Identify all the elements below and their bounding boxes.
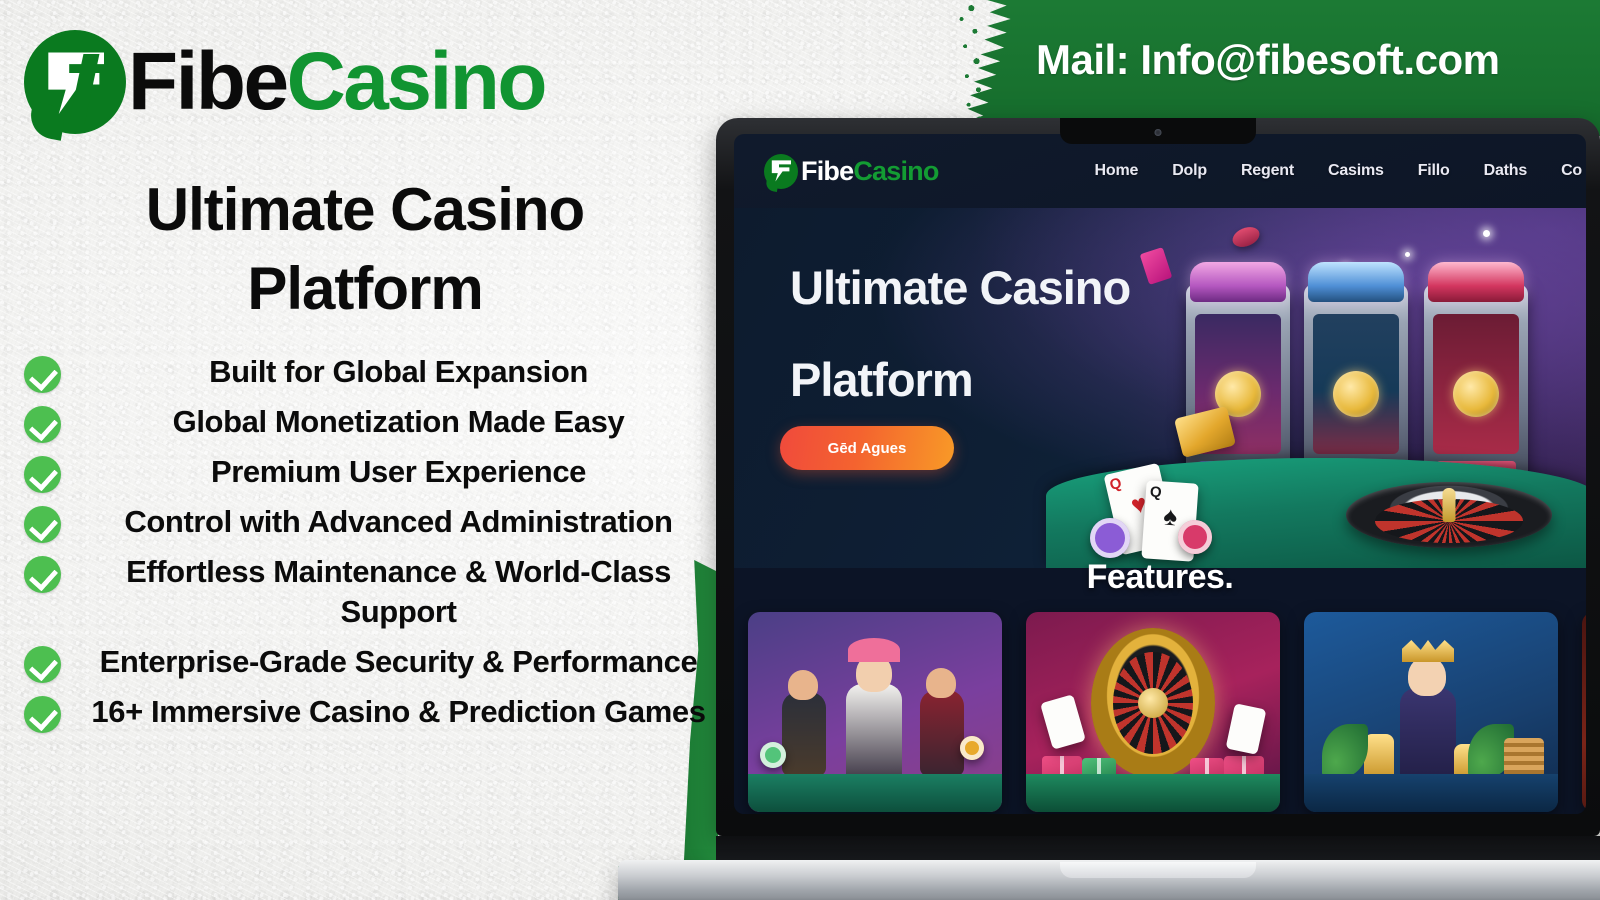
hero-title-line1: Ultimate Casino: [790, 242, 1130, 334]
website-logo[interactable]: FibeCasino: [764, 154, 939, 189]
slot-machine-coin-icon: [1453, 371, 1499, 417]
roulette-wheel-icon: [1346, 482, 1552, 548]
roulette-hub: [1138, 688, 1168, 718]
list-item: Enterprise-Grade Security & Performance: [24, 642, 724, 683]
list-item-label: Built for Global Expansion: [77, 352, 724, 392]
list-item: Control with Advanced Administration: [24, 502, 724, 543]
roulette-wheel-icon: [1091, 628, 1215, 778]
list-item: Built for Global Expansion: [24, 352, 724, 393]
queen-head: [1408, 656, 1446, 696]
card-pip: Q: [1108, 476, 1123, 493]
nav-item-home[interactable]: Home: [1095, 162, 1139, 180]
check-circle-icon: [24, 406, 61, 443]
card-table-felt: [1026, 774, 1280, 812]
casino-chip-icon: [760, 742, 786, 768]
hero-cta-button[interactable]: Gēd Agues: [780, 426, 954, 470]
slot-machine-crown: [1428, 262, 1524, 302]
card-table-felt: [748, 774, 1002, 812]
features-section-title: Features.: [1087, 558, 1234, 597]
sparkle-icon: [1483, 230, 1490, 237]
hostess-character: [846, 684, 902, 782]
croupier-head: [926, 668, 956, 698]
casino-chip-icon: [960, 736, 984, 760]
page-title-line1: Ultimate Casino: [20, 170, 710, 249]
brand-logo: FibeCasino: [24, 30, 545, 134]
hero-artwork: Q ♥ Q ♠: [1086, 208, 1586, 568]
list-item: Global Monetization Made Easy: [24, 402, 724, 443]
laptop-base-notch: [1060, 862, 1256, 878]
slot-machine-crown: [1308, 262, 1404, 302]
website-features-section: Features.: [734, 568, 1586, 814]
laptop-base: [618, 860, 1600, 900]
list-item: Effortless Maintenance & World-Class Sup…: [24, 552, 724, 633]
dealer-head: [788, 670, 818, 700]
casino-chip-icon: [1230, 223, 1263, 250]
casino-chip-icon: [1090, 518, 1130, 558]
card-suit-icon: ♠: [1163, 503, 1179, 530]
nav-item-casims[interactable]: Casims: [1328, 162, 1384, 180]
nav-item-fillo[interactable]: Fillo: [1418, 162, 1450, 180]
card-pip: Q: [1149, 485, 1162, 501]
page-title-line2: Platform: [20, 249, 710, 328]
slot-machine-crown: [1190, 262, 1286, 302]
check-circle-icon: [24, 456, 61, 493]
feature-card-partial[interactable]: [1582, 612, 1586, 812]
check-circle-icon: [24, 506, 61, 543]
list-item-label: Global Monetization Made Easy: [77, 402, 724, 442]
feature-bullet-list: Built for Global Expansion Global Moneti…: [24, 352, 724, 742]
list-item-label: 16+ Immersive Casino & Prediction Games: [77, 692, 724, 732]
nav-item-co[interactable]: Co: [1561, 162, 1582, 180]
website-logo-part2: Casino: [853, 156, 938, 186]
playing-card-icon: [1226, 703, 1267, 755]
feature-card-trophy[interactable]: [1304, 612, 1558, 812]
check-circle-icon: [24, 356, 61, 393]
laptop-mockup: FibeCasino Home Dolp Regent Casims Fillo…: [716, 118, 1600, 900]
nav-item-regent[interactable]: Regent: [1241, 162, 1294, 180]
playing-card-icon: [1040, 694, 1086, 750]
check-circle-icon: [24, 696, 61, 733]
laptop-lid: FibeCasino Home Dolp Regent Casims Fillo…: [716, 118, 1600, 836]
plant-leaf-icon: [1322, 724, 1368, 778]
playing-card-icon: [1140, 247, 1173, 285]
dealer-character: [782, 692, 826, 776]
list-item-label: Effortless Maintenance & World-Class Sup…: [77, 552, 724, 633]
laptop-hinge: [716, 836, 1600, 860]
website-hero: Ultimate Casino Platform Gēd Agues: [734, 208, 1586, 568]
laptop-screen: FibeCasino Home Dolp Regent Casims Fillo…: [734, 134, 1586, 814]
card-table-felt: [1304, 774, 1558, 812]
queen-character: [1400, 688, 1456, 782]
website-wordmark: FibeCasino: [801, 156, 939, 187]
list-item: Premium User Experience: [24, 452, 724, 493]
website-logo-part1: Fibe: [801, 156, 853, 186]
hero-title-line2: Platform: [790, 334, 1130, 426]
slot-machine-coin-icon: [1333, 371, 1379, 417]
nav-links: Home Dolp Regent Casims Fillo Daths Co: [1095, 162, 1586, 180]
contact-email-text: Mail: Info@fibesoft.com: [1036, 36, 1499, 84]
list-item-label: Premium User Experience: [77, 452, 724, 492]
hostess-bow-icon: [848, 638, 900, 662]
brand-name-part1: Fibe: [128, 36, 287, 127]
feature-card-casino-dealer[interactable]: [748, 612, 1002, 812]
list-item-label: Control with Advanced Administration: [77, 502, 724, 542]
list-item: 16+ Immersive Casino & Prediction Games: [24, 692, 724, 733]
coin-stack-icon: [1504, 738, 1544, 778]
croupier-character: [920, 690, 964, 776]
brand-name-part2: Casino: [287, 36, 545, 127]
nav-item-daths[interactable]: Daths: [1484, 162, 1527, 180]
check-circle-icon: [24, 556, 61, 593]
page-title: Ultimate Casino Platform: [20, 170, 710, 328]
trophy-icon: [1364, 734, 1394, 778]
nav-item-dolp[interactable]: Dolp: [1172, 162, 1207, 180]
roulette-hub: [1443, 488, 1456, 522]
feature-card-roulette[interactable]: [1026, 612, 1280, 812]
casino-chip-icon: [1178, 520, 1212, 554]
sparkle-icon: [1405, 252, 1410, 257]
crown-icon: [1402, 640, 1454, 662]
features-card-row: [748, 612, 1586, 812]
check-circle-icon: [24, 646, 61, 683]
hero-title: Ultimate Casino Platform: [790, 242, 1130, 425]
fibe-speech-bubble-logo-icon: [764, 154, 798, 189]
website-navbar: FibeCasino Home Dolp Regent Casims Fillo…: [734, 134, 1586, 208]
brand-wordmark: FibeCasino: [128, 41, 545, 123]
fibe-speech-bubble-logo-icon: [24, 30, 126, 134]
list-item-label: Enterprise-Grade Security & Performance: [77, 642, 724, 682]
